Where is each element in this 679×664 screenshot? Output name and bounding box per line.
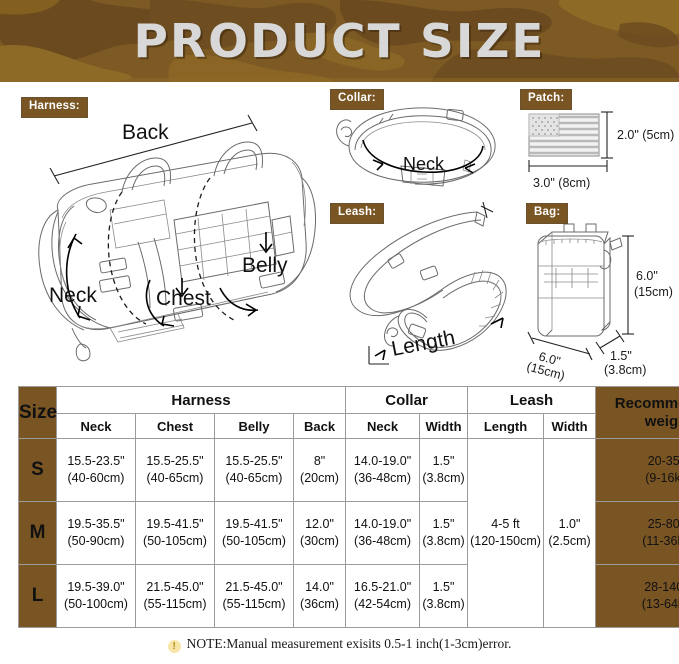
table-subheader-leash-width: Width (544, 414, 596, 439)
value-cm: (55-115cm) (136, 596, 214, 613)
value-in: 19.5-41.5" (136, 516, 214, 533)
warning-icon: ! (168, 640, 181, 653)
bag-height-dimension (622, 236, 634, 334)
cell-leash-width: 1.0" (2.5cm) (544, 439, 596, 628)
bag-diagram: 6.0" (15cm) 6.0" (15cm) 1.5" (3.8cm) (512, 198, 679, 378)
table-header-recommended-weight: Recommended weight (596, 387, 679, 439)
cell-weight-l: 28-140lb (13-64kg) (596, 565, 679, 628)
table-subheader-harness-back: Back (294, 414, 346, 439)
value-in: 12.0" (294, 516, 345, 533)
table-subheader-harness-neck: Neck (57, 414, 136, 439)
value-in: 14.0-19.0" (346, 453, 419, 470)
value-in: 14.0-19.0" (346, 516, 419, 533)
value-kg: (9-16kg) (596, 470, 679, 487)
table-group-leash: Leash (468, 387, 596, 414)
cell-harness-belly-s: 15.5-25.5" (40-65cm) (215, 439, 294, 502)
harness-belly-label: Belly (242, 254, 288, 277)
patch-width-label: 3.0" (8cm) (533, 176, 590, 190)
value-cm: (3.8cm) (420, 470, 467, 487)
value-in: 1.5" (420, 516, 467, 533)
cell-harness-back-l: 14.0" (36cm) (294, 565, 346, 628)
value-lb: 20-35lb (596, 453, 679, 470)
harness-chest-label: Chest (156, 287, 211, 310)
table-subheader-leash-length: Length (468, 414, 544, 439)
size-table-wrapper: Size Harness Collar Leash Recommended we… (18, 386, 661, 628)
patch-badge: Patch: (521, 90, 571, 109)
leash-badge: Leash: (331, 204, 383, 223)
value-in: 1.5" (420, 579, 467, 596)
cell-harness-chest-l: 21.5-45.0" (55-115cm) (136, 565, 215, 628)
value-cm: (3.8cm) (420, 533, 467, 550)
cell-harness-neck-m: 19.5-35.5" (50-90cm) (57, 502, 136, 565)
value-lb: 25-80lb (596, 516, 679, 533)
flag-patch-illustration (529, 114, 599, 156)
diagram-area: Harness: Back (0, 82, 679, 382)
size-table: Size Harness Collar Leash Recommended we… (18, 386, 679, 628)
value-cm: (40-65cm) (136, 470, 214, 487)
cell-harness-back-m: 12.0" (30cm) (294, 502, 346, 565)
value-in: 15.5-23.5" (57, 453, 135, 470)
table-subheader-collar-width: Width (420, 414, 468, 439)
table-subheader-collar-neck: Neck (346, 414, 420, 439)
value-in: 19.5-39.0" (57, 579, 135, 596)
table-group-header-row: Size Harness Collar Leash Recommended we… (19, 387, 679, 414)
value-in: 14.0" (294, 579, 345, 596)
cell-harness-neck-s: 15.5-23.5" (40-60cm) (57, 439, 136, 502)
table-header-size: Size (19, 387, 57, 439)
leash-length-label: Length (390, 326, 457, 361)
value-in: 19.5-41.5" (215, 516, 293, 533)
value-cm: (50-105cm) (215, 533, 293, 550)
value-cm: (3.8cm) (420, 596, 467, 613)
value-in: 8" (294, 453, 345, 470)
leash-diagram: Length (325, 198, 515, 373)
value-cm: (40-60cm) (57, 470, 135, 487)
value-cm: (120-150cm) (468, 533, 543, 550)
table-subheader-row: Neck Chest Belly Back Neck Width Length … (19, 414, 679, 439)
patch-height-label: 2.0" (5cm) (617, 128, 674, 142)
value-in: 21.5-45.0" (215, 579, 293, 596)
value-kg: (13-64kg) (596, 596, 679, 613)
value-cm: (20cm) (294, 470, 345, 487)
cell-harness-neck-l: 19.5-39.0" (50-100cm) (57, 565, 136, 628)
value-in: 19.5-35.5" (57, 516, 135, 533)
cell-collar-width-l: 1.5" (3.8cm) (420, 565, 468, 628)
table-row: S 15.5-23.5" (40-60cm) 15.5-25.5" (40-65… (19, 439, 679, 502)
harness-neck-label: Neck (49, 284, 97, 307)
value-cm: (36cm) (294, 596, 345, 613)
cell-harness-chest-m: 19.5-41.5" (50-105cm) (136, 502, 215, 565)
harness-diagram: Back (14, 92, 324, 382)
cell-collar-width-s: 1.5" (3.8cm) (420, 439, 468, 502)
row-size-l: L (19, 565, 57, 628)
value-kg: (11-36kg) (596, 533, 679, 550)
table-subheader-harness-chest: Chest (136, 414, 215, 439)
cell-collar-width-m: 1.5" (3.8cm) (420, 502, 468, 565)
cell-leash-length: 4-5 ft (120-150cm) (468, 439, 544, 628)
row-size-s: S (19, 439, 57, 502)
table-subheader-harness-belly: Belly (215, 414, 294, 439)
value-cm: (55-115cm) (215, 596, 293, 613)
bag-width-label-cm: (15cm) (525, 359, 566, 383)
value-in: 21.5-45.0" (136, 579, 214, 596)
harness-badge: Harness: (22, 98, 87, 117)
row-size-m: M (19, 502, 57, 565)
value-in: 16.5-21.0" (346, 579, 419, 596)
bag-depth-label-cm: (3.8cm) (604, 363, 646, 377)
collar-illustration (337, 108, 495, 186)
bag-depth-label-in: 1.5" (610, 349, 632, 363)
cell-collar-neck-s: 14.0-19.0" (36-48cm) (346, 439, 420, 502)
table-group-collar: Collar (346, 387, 468, 414)
collar-neck-label: Neck (403, 154, 445, 174)
value-cm: (30cm) (294, 533, 345, 550)
value-in: 15.5-25.5" (136, 453, 214, 470)
value-cm: (40-65cm) (215, 470, 293, 487)
page-title: PRODUCT SIZE (0, 14, 679, 68)
value-cm: (42-54cm) (346, 596, 419, 613)
table-group-harness: Harness (57, 387, 346, 414)
bag-illustration (538, 224, 622, 336)
measurement-note: !NOTE:Manual measurement exisits 0.5-1 i… (0, 636, 679, 653)
cell-harness-back-s: 8" (20cm) (294, 439, 346, 502)
cell-collar-neck-l: 16.5-21.0" (42-54cm) (346, 565, 420, 628)
cell-collar-neck-m: 14.0-19.0" (36-48cm) (346, 502, 420, 565)
cell-harness-chest-s: 15.5-25.5" (40-65cm) (136, 439, 215, 502)
bag-badge: Bag: (527, 204, 567, 223)
page-header-banner: PRODUCT SIZE (0, 0, 679, 82)
value-ft: 4-5 ft (468, 516, 543, 533)
collar-badge: Collar: (331, 90, 383, 109)
value-in: 15.5-25.5" (215, 453, 293, 470)
value-in: 1.5" (420, 453, 467, 470)
cell-weight-s: 20-35lb (9-16kg) (596, 439, 679, 502)
value-cm: (50-100cm) (57, 596, 135, 613)
bag-height-label-cm: (15cm) (634, 285, 673, 299)
value-lb: 28-140lb (596, 579, 679, 596)
value-cm: (36-48cm) (346, 470, 419, 487)
bag-height-label-in: 6.0" (636, 269, 658, 283)
harness-illustration (39, 142, 316, 361)
patch-height-dimension (601, 112, 613, 158)
note-text: NOTE:Manual measurement exisits 0.5-1 in… (187, 636, 512, 651)
cell-harness-belly-l: 21.5-45.0" (55-115cm) (215, 565, 294, 628)
value-cm: (2.5cm) (544, 533, 595, 550)
value-cm: (50-105cm) (136, 533, 214, 550)
recommended-weight-line2: weight (596, 413, 679, 430)
cell-harness-belly-m: 19.5-41.5" (50-105cm) (215, 502, 294, 565)
leash-illustration (350, 202, 506, 350)
value-cm: (36-48cm) (346, 533, 419, 550)
value-in: 1.0" (544, 516, 595, 533)
patch-width-dimension (529, 160, 607, 172)
recommended-weight-line1: Recommended (596, 395, 679, 412)
value-cm: (50-90cm) (57, 533, 135, 550)
cell-weight-m: 25-80lb (11-36kg) (596, 502, 679, 565)
harness-back-label: Back (122, 121, 169, 144)
